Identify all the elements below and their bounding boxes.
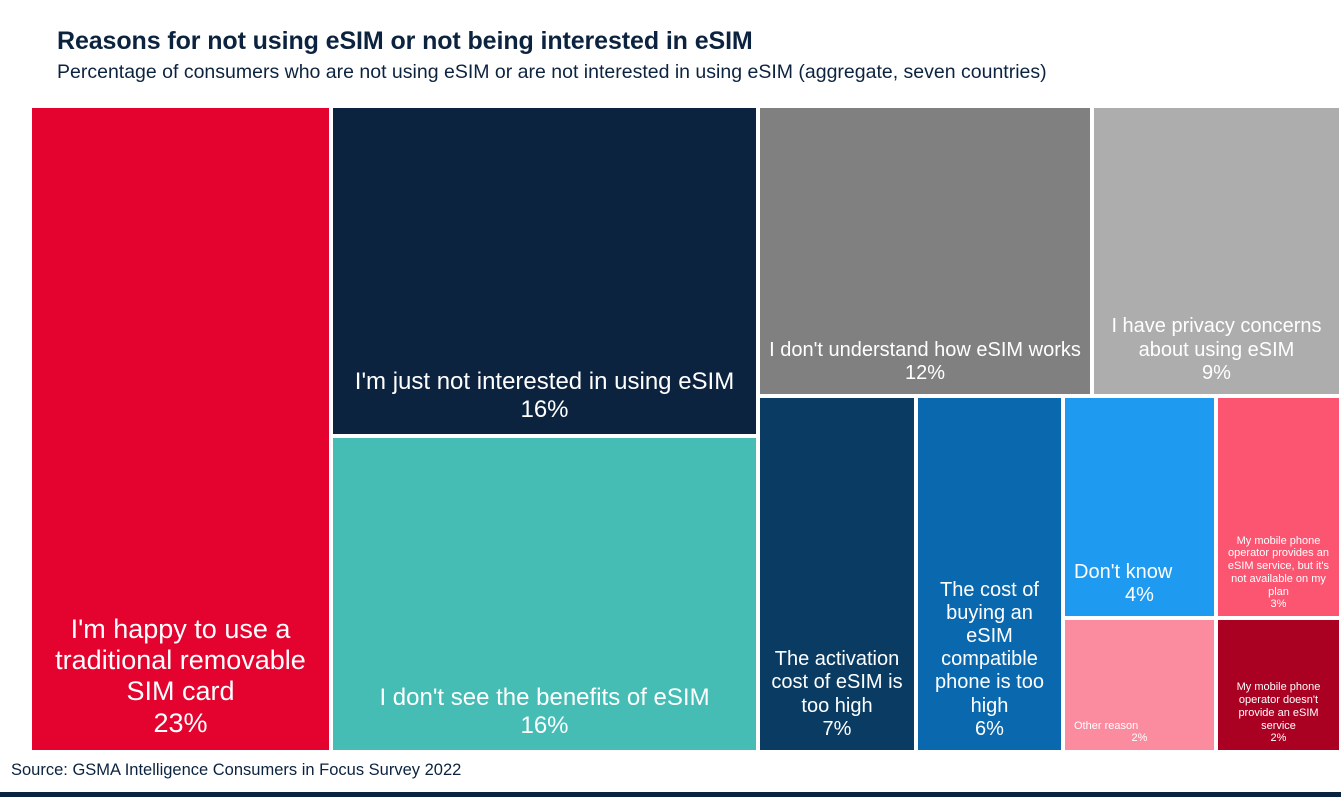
tile-label: I don't understand how eSIM works <box>765 339 1085 362</box>
page-title: Reasons for not using eSIM or not being … <box>57 26 1341 56</box>
tile-value: 2% <box>1223 732 1334 745</box>
tile-value: 16% <box>338 712 751 740</box>
treemap-tile-activation-cost[interactable]: The activation cost of eSIM is too high … <box>758 396 916 752</box>
treemap-tile-dont-know[interactable]: Don't know 4% <box>1063 396 1216 618</box>
chart-footer: Source: GSMA Intelligence Consumers in F… <box>0 752 1341 797</box>
tile-value: 9% <box>1099 362 1334 385</box>
tile-label: I have privacy concerns about using eSIM <box>1099 315 1334 361</box>
treemap-tile-privacy-concerns[interactable]: I have privacy concerns about using eSIM… <box>1092 106 1341 396</box>
tile-value: 12% <box>765 362 1085 385</box>
tile-value: 16% <box>338 396 751 424</box>
tile-value: 6% <box>923 718 1056 741</box>
tile-label: I don't see the benefits of eSIM <box>338 684 751 712</box>
treemap-tile-phone-cost[interactable]: The cost of buying an eSIM compatible ph… <box>916 396 1063 752</box>
treemap-tile-dont-understand[interactable]: I don't understand how eSIM works 12% <box>758 106 1092 396</box>
source-note: Source: GSMA Intelligence Consumers in F… <box>11 761 461 780</box>
tile-value: 3% <box>1223 598 1334 611</box>
treemap-tile-no-benefits[interactable]: I don't see the benefits of eSIM 16% <box>331 436 758 752</box>
tile-label: I'm just not interested in using eSIM <box>338 368 751 396</box>
tile-value: 4% <box>1070 584 1209 607</box>
tile-label: The activation cost of eSIM is too high <box>765 648 909 718</box>
tile-label: I'm happy to use a traditional removable… <box>37 614 324 708</box>
treemap-tile-not-on-my-plan[interactable]: My mobile phone operator provides an eSI… <box>1216 396 1341 618</box>
footer-divider <box>0 792 1341 797</box>
treemap-chart-page: Reasons for not using eSIM or not being … <box>0 0 1341 797</box>
treemap: I'm happy to use a traditional removable… <box>30 106 1341 752</box>
tile-value: 7% <box>765 718 909 741</box>
tile-label: My mobile phone operator provides an eSI… <box>1223 535 1334 599</box>
tile-label: My mobile phone operator doesn't provide… <box>1223 681 1334 732</box>
treemap-tile-not-interested[interactable]: I'm just not interested in using eSIM 16… <box>331 106 758 436</box>
tile-value: 23% <box>37 708 324 739</box>
page-subtitle: Percentage of consumers who are not usin… <box>57 59 1341 85</box>
tile-label: The cost of buying an eSIM compatible ph… <box>923 579 1056 718</box>
treemap-tile-other-reason[interactable]: Other reason 2% <box>1063 618 1216 752</box>
tile-value: 2% <box>1070 732 1209 745</box>
chart-header: Reasons for not using eSIM or not being … <box>0 0 1341 106</box>
tile-label: Other reason <box>1070 720 1209 733</box>
treemap-tile-happy-traditional-sim[interactable]: I'm happy to use a traditional removable… <box>30 106 331 752</box>
tile-label: Don't know <box>1070 561 1209 584</box>
treemap-tile-no-esim-service[interactable]: My mobile phone operator doesn't provide… <box>1216 618 1341 752</box>
